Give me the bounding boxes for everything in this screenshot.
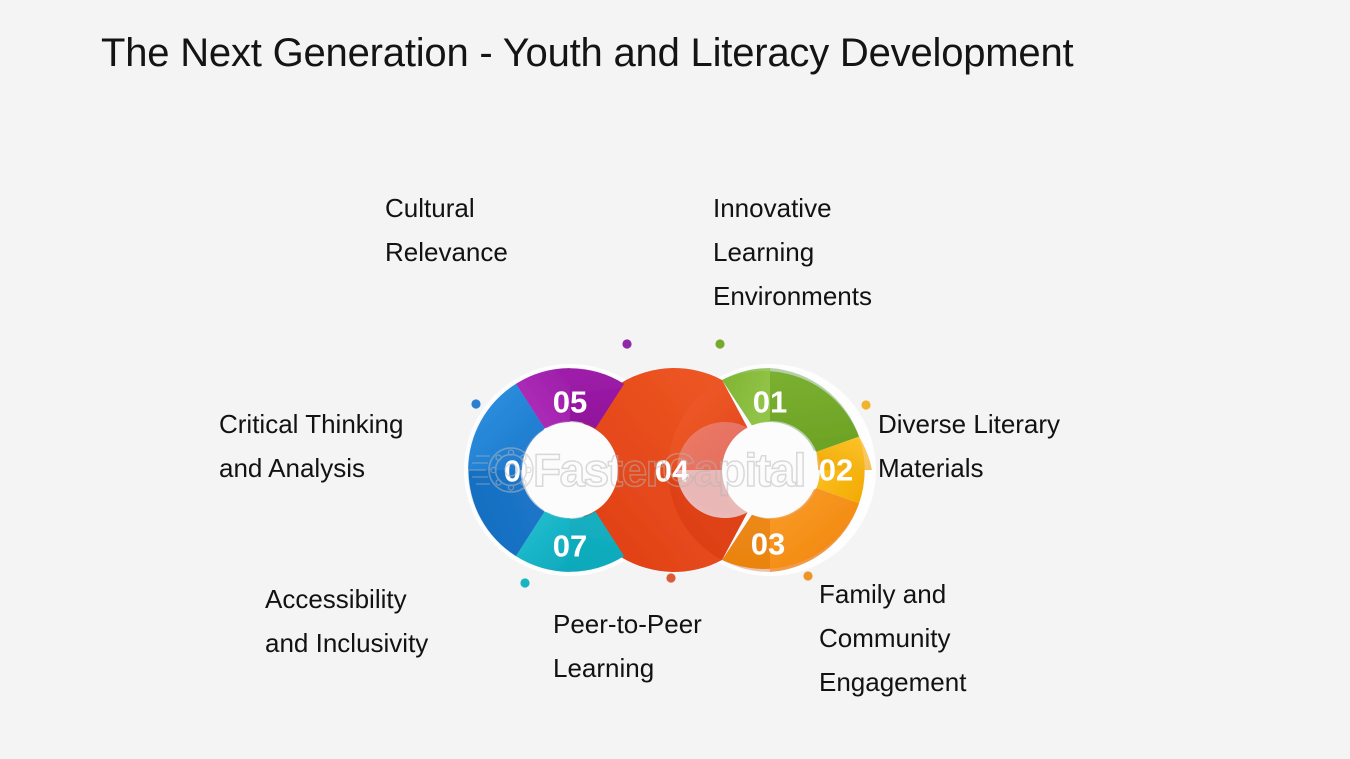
watermark-text: FasterCapital bbox=[533, 444, 805, 496]
label-diverse-literary-materials: Diverse Literary Materials bbox=[878, 402, 1138, 490]
label-line: Family and bbox=[819, 572, 1039, 616]
label-line: Learning bbox=[713, 230, 953, 274]
label-line: Cultural bbox=[385, 186, 615, 230]
segment-number-01: 01 bbox=[753, 385, 787, 420]
label-critical-thinking-and-analysis: Critical Thinking and Analysis bbox=[219, 402, 479, 490]
dot-family-community bbox=[803, 571, 812, 580]
label-line: Environments bbox=[713, 274, 953, 318]
label-line: Engagement bbox=[819, 660, 1039, 704]
dot-diverse-literary bbox=[861, 400, 870, 409]
segment-number-03: 03 bbox=[751, 527, 785, 562]
slide-canvas: The Next Generation - Youth and Literacy… bbox=[0, 0, 1350, 759]
segment-number-05: 05 bbox=[553, 385, 587, 420]
label-line: and Analysis bbox=[219, 446, 479, 490]
label-line: Materials bbox=[878, 446, 1138, 490]
label-line: Critical Thinking bbox=[219, 402, 479, 446]
label-line: Learning bbox=[553, 646, 773, 690]
label-peer-to-peer-learning: Peer-to-Peer Learning bbox=[553, 602, 773, 690]
label-cultural-relevance: Cultural Relevance bbox=[385, 186, 615, 274]
dot-cultural-relevance bbox=[622, 339, 631, 348]
label-innovative-learning-environments: Innovative Learning Environments bbox=[713, 186, 953, 318]
label-line: Diverse Literary bbox=[878, 402, 1138, 446]
label-family-and-community-engagement: Family and Community Engagement bbox=[819, 572, 1039, 704]
label-line: Innovative bbox=[713, 186, 953, 230]
label-accessibility-and-inclusivity: Accessibility and Inclusivity bbox=[265, 577, 515, 665]
label-line: Accessibility bbox=[265, 577, 515, 621]
label-line: Community bbox=[819, 616, 1039, 660]
label-line: Peer-to-Peer bbox=[553, 602, 773, 646]
segment-number-02: 02 bbox=[819, 453, 853, 488]
dot-peer-to-peer bbox=[666, 573, 675, 582]
label-line: and Inclusivity bbox=[265, 621, 515, 665]
dot-accessibility bbox=[520, 578, 529, 587]
label-line: Relevance bbox=[385, 230, 615, 274]
segment-number-07: 07 bbox=[553, 529, 587, 564]
dot-innovative-learning bbox=[715, 339, 724, 348]
